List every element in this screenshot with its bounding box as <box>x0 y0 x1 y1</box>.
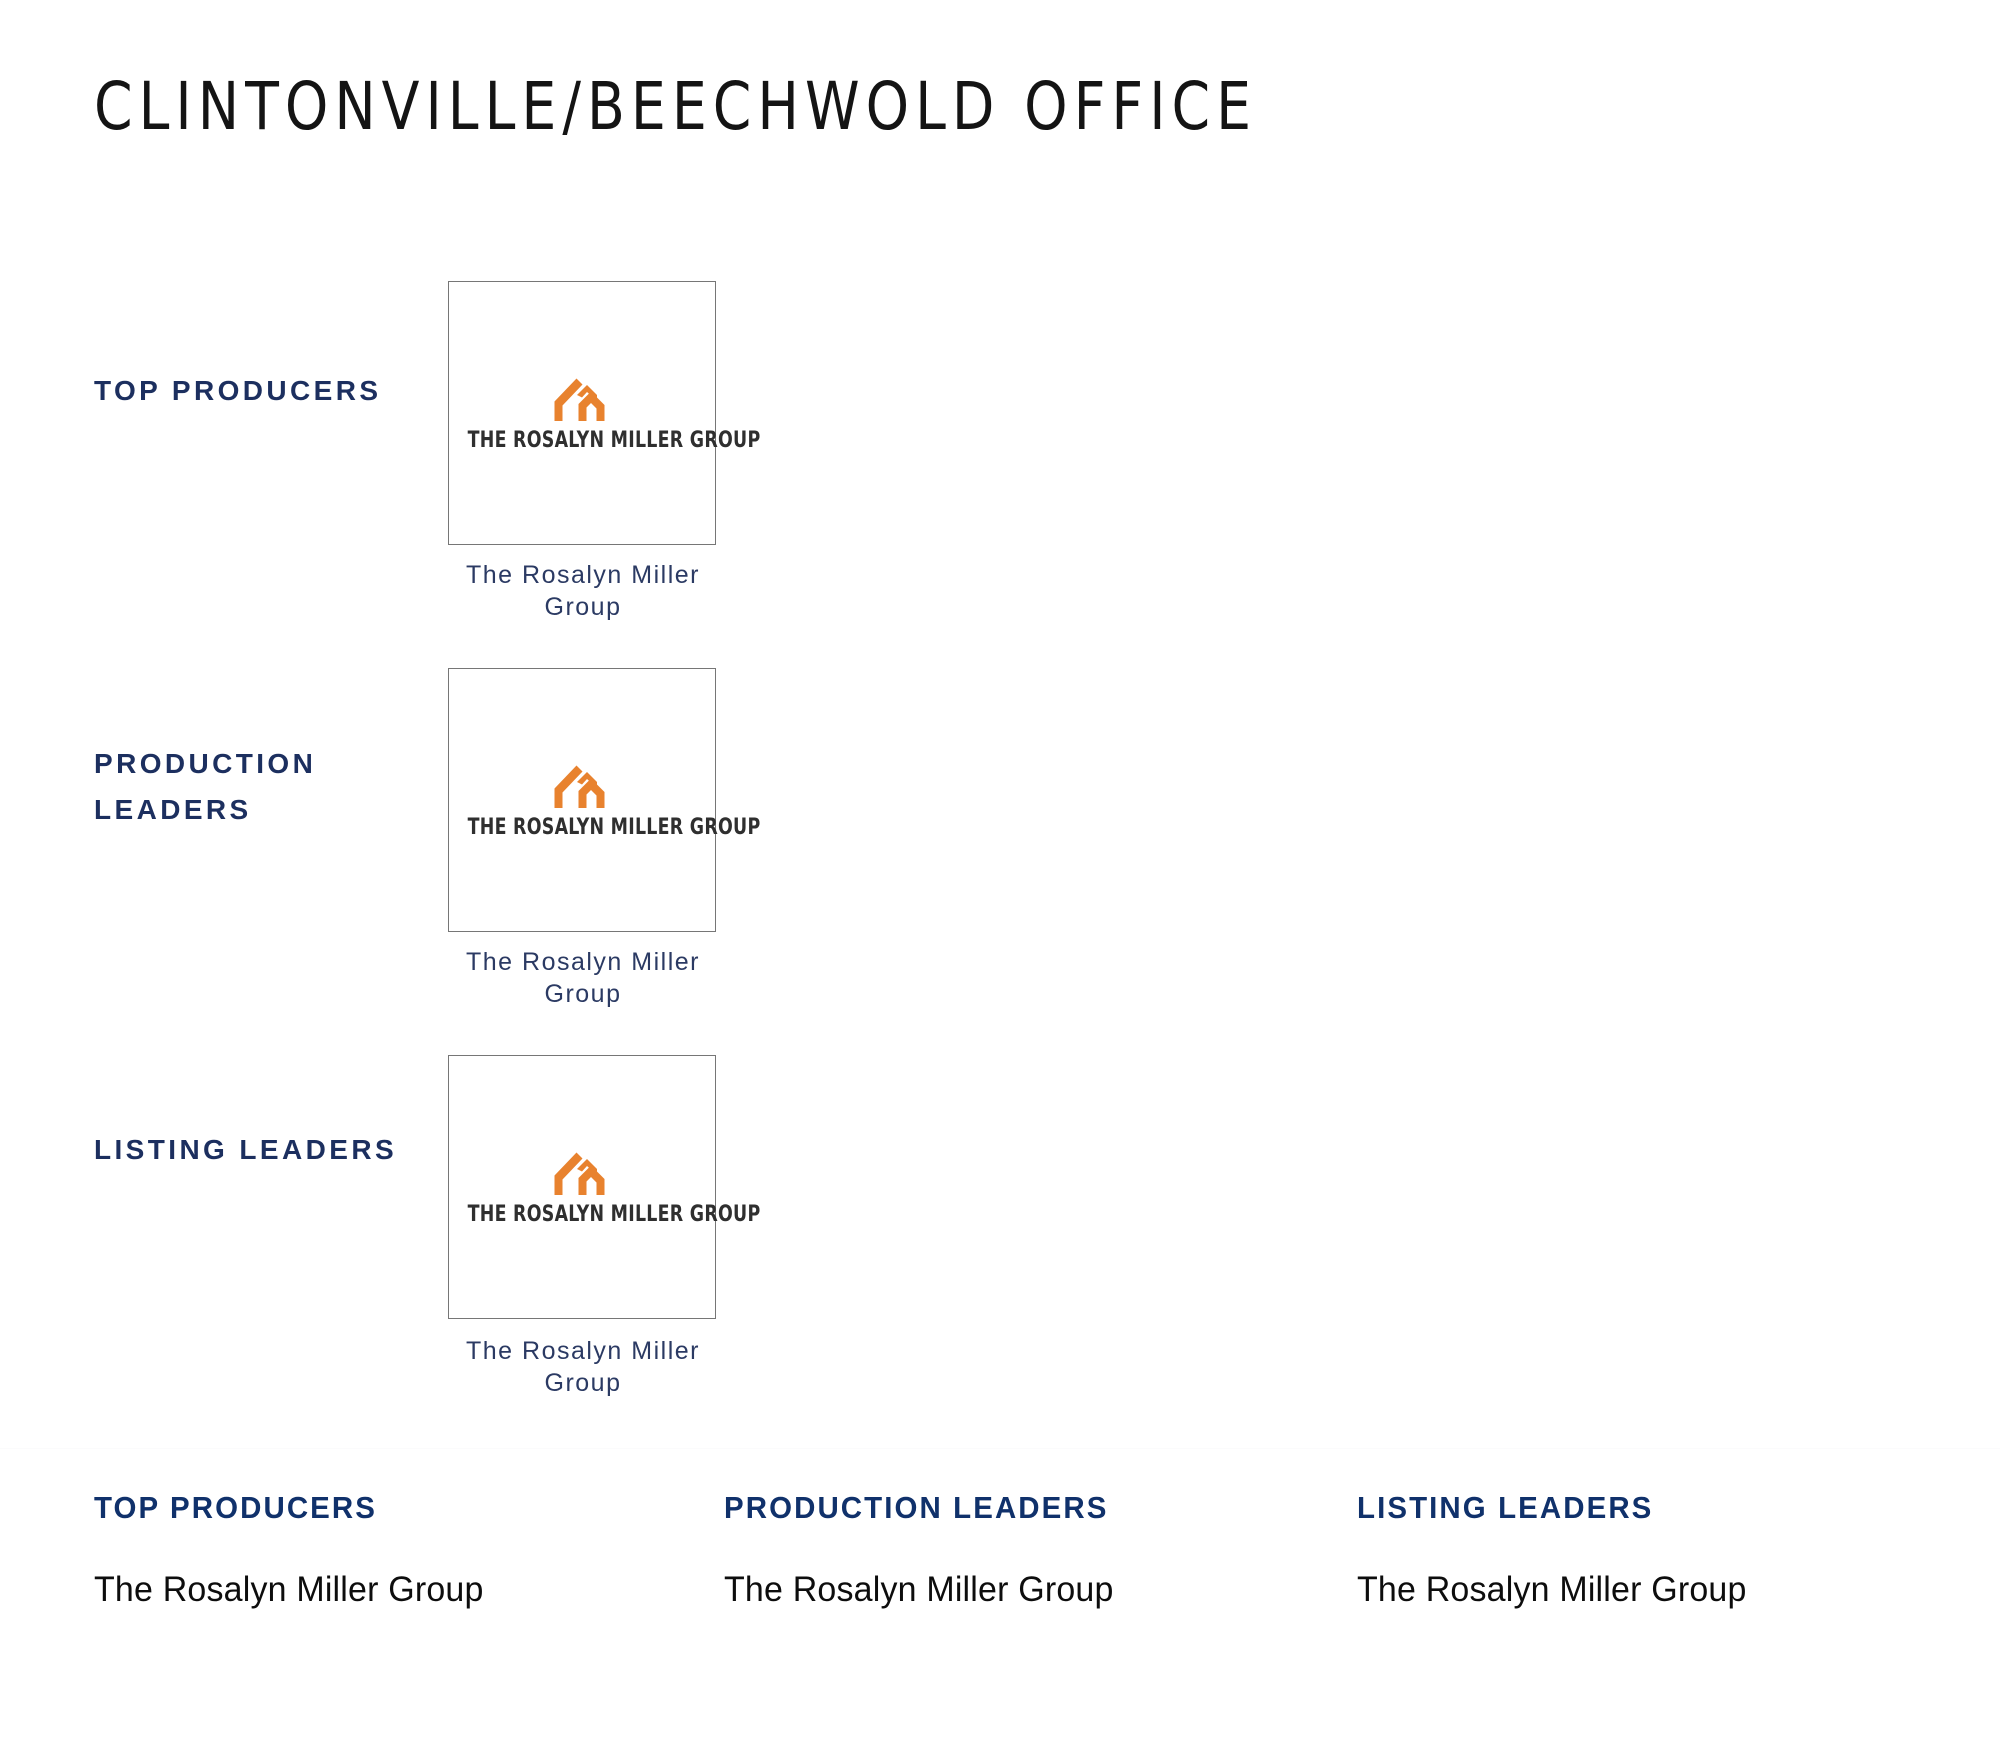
logo-wordmark: THE ROSALYN MILLER GROUP <box>468 427 697 453</box>
award-row-label-production-leaders: PRODUCTION LEADERS <box>94 741 424 834</box>
section-divider <box>0 1448 2000 1449</box>
rosalyn-miller-group-house-mark-icon <box>551 1147 613 1197</box>
award-row-label-listing-leaders: LISTING LEADERS <box>94 1127 424 1173</box>
logo-inner: THE ROSALYN MILLER GROUP <box>449 373 715 453</box>
award-row-caption: The Rosalyn Miller Group <box>448 947 718 1010</box>
summary-column-production-leaders: PRODUCTION LEADERS The Rosalyn Miller Gr… <box>724 1490 1304 1610</box>
award-row: PRODUCTION LEADERS THE ROSALYN MILLER GR… <box>0 655 2000 1042</box>
summary-value: The Rosalyn Miller Group <box>1357 1570 1920 1610</box>
summary-column-top-producers: TOP PRODUCERS The Rosalyn Miller Group <box>94 1490 674 1610</box>
summary-heading: PRODUCTION LEADERS <box>724 1490 1275 1526</box>
summary-value: The Rosalyn Miller Group <box>724 1570 1287 1610</box>
award-rows-list: TOP PRODUCERS THE ROSALYN MILLER GROUP T… <box>0 268 2000 1442</box>
logo-inner: THE ROSALYN MILLER GROUP <box>449 760 715 840</box>
summary-heading: LISTING LEADERS <box>1357 1490 1908 1526</box>
award-row-caption: The Rosalyn Miller Group <box>448 560 718 623</box>
award-row: TOP PRODUCERS THE ROSALYN MILLER GROUP T… <box>0 268 2000 655</box>
logo-card[interactable]: THE ROSALYN MILLER GROUP <box>448 668 716 932</box>
summary-heading: TOP PRODUCERS <box>94 1490 645 1526</box>
award-row-label-top-producers: TOP PRODUCERS <box>94 368 424 414</box>
logo-wordmark: THE ROSALYN MILLER GROUP <box>468 814 697 840</box>
logo-inner: THE ROSALYN MILLER GROUP <box>449 1147 715 1227</box>
summary-column-listing-leaders: LISTING LEADERS The Rosalyn Miller Group <box>1357 1490 1937 1610</box>
logo-card[interactable]: THE ROSALYN MILLER GROUP <box>448 281 716 545</box>
logo-wordmark: THE ROSALYN MILLER GROUP <box>468 1201 697 1227</box>
logo-card[interactable]: THE ROSALYN MILLER GROUP <box>448 1055 716 1319</box>
rosalyn-miller-group-house-mark-icon <box>551 373 613 423</box>
rosalyn-miller-group-house-mark-icon <box>551 760 613 810</box>
award-row-caption: The Rosalyn Miller Group <box>448 1336 718 1399</box>
summary-value: The Rosalyn Miller Group <box>94 1570 657 1610</box>
page-title: CLINTONVILLE/BEECHWOLD OFFICE <box>94 68 1257 145</box>
award-row: LISTING LEADERS THE ROSALYN MILLER GROUP… <box>0 1042 2000 1442</box>
